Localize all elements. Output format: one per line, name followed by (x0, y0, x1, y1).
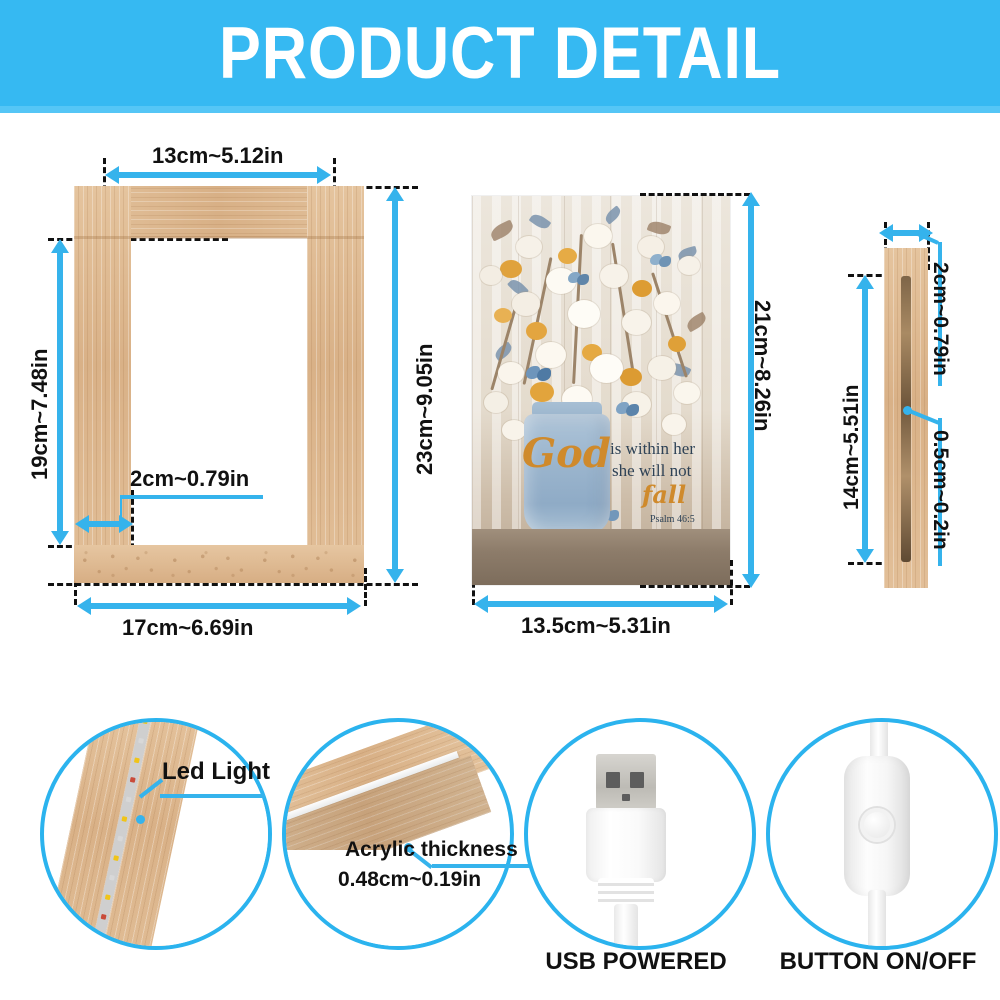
switch-button[interactable] (860, 808, 894, 842)
callout-acrylic-thickness: Acrylic thickness (345, 838, 518, 862)
dimension-label-slot-length: 14cm~5.51in (840, 384, 864, 510)
header-banner-edge (0, 106, 1000, 113)
decor-flower-white (674, 382, 700, 404)
callout-acrylic-value: 0.48cm~0.19in (338, 868, 481, 892)
decor-leaf (529, 211, 552, 231)
verse-reference: Psalm 46:5 (650, 514, 695, 525)
butterfly-icon (650, 254, 672, 270)
guide-line (730, 560, 733, 605)
decor-flower-orange (530, 382, 554, 402)
dimension-arrow-base-thickness (892, 230, 920, 236)
decor-leaf (684, 312, 708, 333)
decor-flower-white (536, 342, 566, 368)
decor-flower-orange (620, 368, 642, 386)
leader-dot (136, 815, 145, 824)
decor-flower-white (568, 300, 600, 328)
decor-flower-white (512, 292, 540, 316)
verse-word-god: God (522, 434, 611, 474)
page-title: PRODUCT DETAIL (70, 0, 930, 106)
butterfly-icon (616, 402, 640, 419)
usb-metal-head (596, 754, 656, 810)
decor-flower-orange (632, 280, 652, 297)
leader-line (160, 794, 265, 798)
butterfly-icon (526, 366, 552, 384)
dimension-label-panel-width: 13.5cm~5.31in (521, 613, 671, 639)
dimension-arrow-outer-height (392, 200, 398, 570)
dimension-label-panel-height: 21cm~8.26in (749, 300, 775, 431)
verse-word-fall: fall (642, 482, 686, 508)
decor-flower-white (590, 354, 623, 383)
feature-circle-button (766, 718, 998, 950)
decor-flower-orange (558, 248, 577, 264)
decor-flower-white (480, 266, 502, 285)
decor-flower-white (600, 264, 628, 288)
dimension-label-base-thickness: 2cm~0.79in (928, 262, 952, 376)
decor-flower-white (678, 256, 700, 275)
decor-flower-orange (500, 260, 522, 278)
switch-cable-bottom (868, 890, 886, 950)
decor-flower-white (484, 392, 508, 413)
dimension-label-outer-width: 17cm~6.69in (122, 615, 253, 641)
dimension-arrow-panel-width (487, 601, 715, 607)
artwork-image: God is within her she will not fall Psal… (472, 196, 730, 585)
decor-flower-orange (494, 308, 512, 323)
decor-leaf (488, 220, 515, 242)
decor-flower-white (498, 362, 524, 384)
dimension-label-outer-height: 23cm~9.05in (412, 344, 438, 475)
feature-circle-usb (524, 718, 756, 950)
dimension-arrow-inner-width (118, 172, 318, 178)
decor-flower-white (622, 310, 651, 335)
decor-flower-orange (668, 336, 686, 352)
usb-cable-grip (598, 878, 654, 906)
guide-line (640, 585, 750, 588)
decor-flower-orange (526, 322, 547, 340)
dimension-label-slot-width: 0.5cm~0.2in (928, 430, 952, 550)
frame-miter-left (74, 545, 132, 583)
feature-circle-acrylic (282, 718, 514, 950)
dimension-label-inner-height: 19cm~7.48in (27, 349, 53, 480)
guide-line (48, 583, 418, 586)
decor-flower-white (662, 414, 686, 435)
decor-flower-white (648, 356, 676, 380)
leader-line (120, 495, 263, 499)
callout-led-light: Led Light (162, 758, 270, 786)
caption-button-on-off: BUTTON ON/OFF (766, 948, 990, 976)
leader-line (120, 497, 122, 524)
dimension-label-border-width: 2cm~0.79in (130, 466, 249, 492)
guide-line (364, 568, 367, 606)
decor-flower-white (654, 292, 680, 315)
dimension-arrow-inner-height (57, 252, 63, 532)
shelf-surface (472, 529, 730, 585)
decor-leaf (603, 205, 623, 224)
usb-cable (614, 904, 638, 950)
dimension-arrow-border-width (88, 521, 120, 527)
dimension-label-inner-width: 13cm~5.12in (152, 143, 283, 169)
decor-leaf (647, 219, 672, 238)
verse-line-2: she will not (612, 460, 691, 482)
frame-rabbet-line (74, 236, 364, 239)
usb-connector-body (586, 808, 666, 882)
caption-usb-powered: USB POWERED (524, 948, 748, 976)
butterfly-icon (568, 272, 590, 288)
decor-flower-white (584, 224, 612, 248)
base-slot (901, 276, 911, 562)
verse-line-1: is within her (610, 438, 695, 460)
decor-flower-white (516, 236, 542, 258)
frame-right-rail (307, 186, 364, 583)
dimension-arrow-outer-width (90, 603, 348, 609)
feature-circle-led-light (40, 718, 272, 950)
